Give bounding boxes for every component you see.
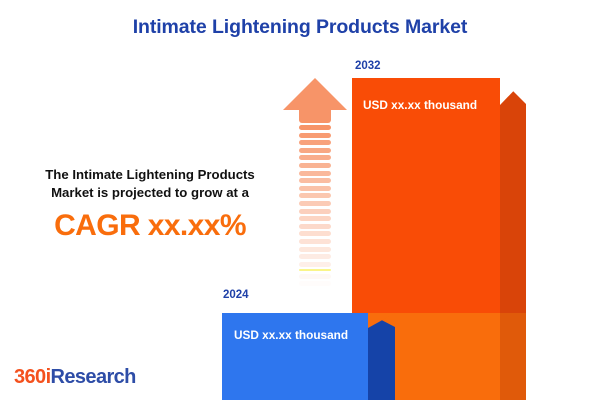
arrow-stripe <box>299 193 331 198</box>
arrow-stripe <box>299 125 331 130</box>
arrow-stripe <box>299 297 331 302</box>
arrow-stripe <box>299 178 331 183</box>
arrow-stripe <box>299 262 331 267</box>
logo-text-orange: 360i <box>14 366 51 388</box>
bar-label-2032: 2032 <box>355 60 381 72</box>
statement-line-2: Market is projected to grow at a <box>14 184 286 202</box>
bar-value-2032: USD xx.xx thousand <box>363 98 477 112</box>
arrow-shaft <box>299 125 331 303</box>
logo-text-blue: Research <box>51 366 136 388</box>
arrow-stripe <box>299 274 331 279</box>
bar-value-2024: USD xx.xx thousand <box>234 328 348 342</box>
bar-forecast-side-lower <box>500 313 526 400</box>
arrow-stripe <box>299 247 331 252</box>
arrow-neck <box>299 109 331 123</box>
infographic-canvas: Intimate Lightening Products Market The … <box>0 0 600 400</box>
arrow-head-icon <box>283 78 347 110</box>
arrow-stripe <box>299 201 331 206</box>
growth-statement: The Intimate Lightening Products Market … <box>14 166 286 243</box>
arrow-stripe <box>299 163 331 168</box>
page-title: Intimate Lightening Products Market <box>0 16 600 39</box>
bar-base-side <box>368 313 395 400</box>
arrow-stripe <box>299 254 331 259</box>
arrow-stripe <box>299 186 331 191</box>
arrow-stripe <box>299 148 331 153</box>
bar-label-2024: 2024 <box>223 289 249 301</box>
arrow-stripe <box>299 281 331 286</box>
bar-base-front <box>222 313 368 400</box>
brand-logo[interactable]: 360iResearch <box>14 366 136 389</box>
arrow-stripe <box>299 171 331 176</box>
arrow-stripe <box>299 133 331 138</box>
arrow-stripe <box>299 155 331 160</box>
arrow-stripe <box>299 231 331 236</box>
statement-line-1: The Intimate Lightening Products <box>14 166 286 184</box>
bar-forecast-front-upper <box>352 78 500 313</box>
arrow-stripe <box>299 140 331 145</box>
arrow-stripe <box>299 289 331 294</box>
arrow-stripe <box>299 269 331 271</box>
cagr-value: CAGR xx.xx% <box>14 209 286 243</box>
arrow-stripe <box>299 224 331 229</box>
arrow-stripe <box>299 209 331 214</box>
growth-arrow-icon <box>283 78 347 303</box>
arrow-stripe <box>299 216 331 221</box>
arrow-stripe <box>299 239 331 244</box>
